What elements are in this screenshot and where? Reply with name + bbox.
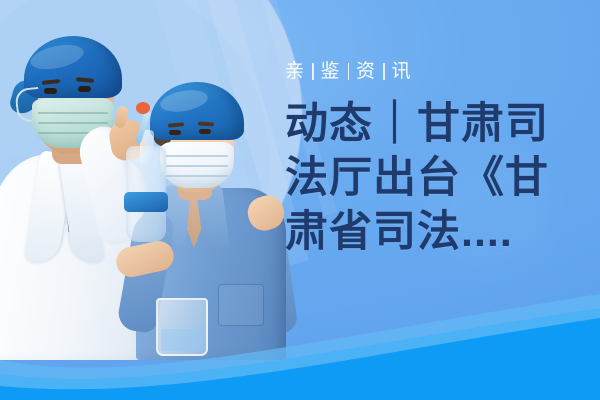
headline-title: 动态｜甘肃司 法厅出台《甘 肃省司法.... (285, 97, 585, 260)
nurse-eye (169, 130, 181, 136)
pipette-bulb (136, 102, 150, 114)
doctor-eye (44, 88, 57, 94)
kicker-separator (383, 63, 385, 80)
nurse-face-mask (160, 142, 234, 188)
nurse-eye (199, 129, 211, 135)
bottom-wave-decoration (0, 290, 600, 400)
kicker-separator (348, 63, 350, 80)
nurse-surgical-cap (150, 82, 244, 140)
text-column: 亲 鉴 资 讯 动态｜甘肃司 法厅出台《甘 肃省司法.... (285, 62, 585, 260)
kicker-word-4: 讯 (392, 62, 412, 81)
doctor-eye (78, 86, 91, 92)
kicker-word-2: 鉴 (321, 62, 341, 81)
doctor-surgical-cap (24, 36, 122, 98)
kicker-row: 亲 鉴 资 讯 (285, 62, 585, 81)
lab-flask-cap (124, 192, 168, 212)
kicker-word-1: 亲 (285, 62, 305, 81)
nurse-eyebrow (168, 122, 184, 127)
kicker-separator (312, 63, 314, 80)
kicker-word-3: 资 (356, 62, 376, 81)
news-banner-card: 亲 鉴 资 讯 动态｜甘肃司 法厅出台《甘 肃省司法.... (0, 0, 600, 400)
nurse-eyebrow (198, 121, 214, 126)
